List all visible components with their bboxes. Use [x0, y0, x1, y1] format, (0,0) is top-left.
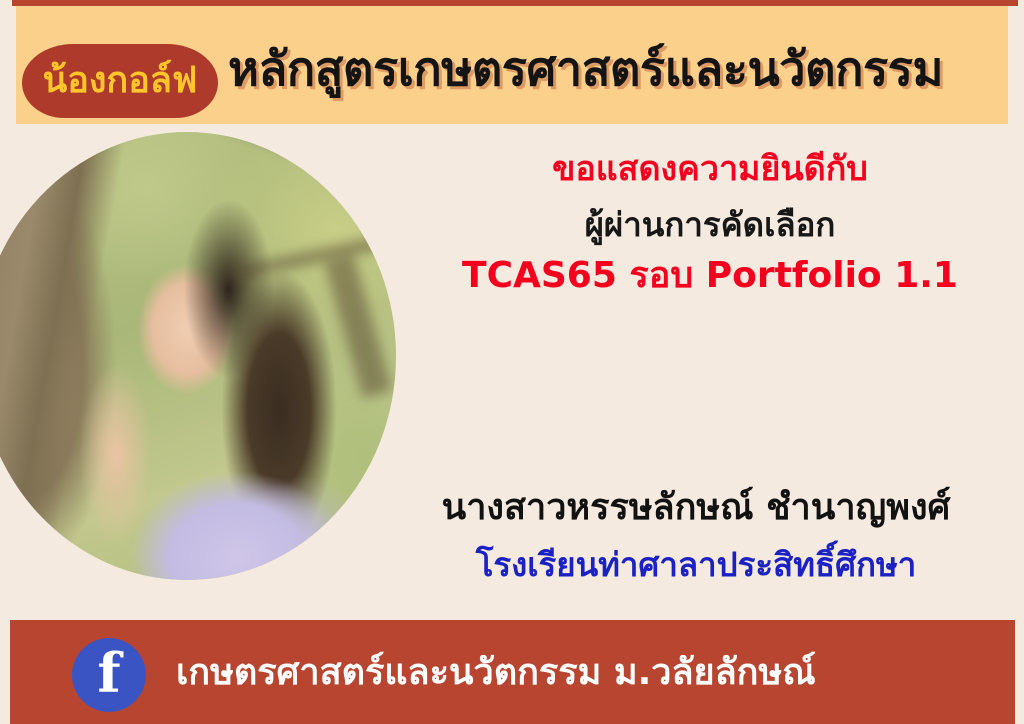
tree-trunk-decor [324, 254, 392, 399]
congratulations-heading: ขอแสดงความยินดีกับ [396, 152, 1024, 186]
program-title: หลักสูตรเกษตรศาสตร์และนวัตกรรม [228, 46, 1018, 93]
tree-branch-decor [230, 229, 396, 282]
round-label: TCAS65 รอบ Portfolio 1.1 [396, 258, 1024, 294]
facebook-page-name: เกษตรศาสตร์และนวัตกรรม ม.วลัยลักษณ์ [176, 655, 816, 691]
student-name: นางสาวหรรษลักษณ์ ชำนาญพงศ์ [372, 490, 1020, 526]
congratulation-poster: น้องกอล์ฟ หลักสูตรเกษตรศาสตร์และนวัตกรรม… [0, 0, 1024, 724]
nickname-badge: น้องกอล์ฟ [22, 44, 218, 118]
student-photo [0, 132, 396, 580]
student-school: โรงเรียนท่าศาลาประสิทธิ์ศึกษา [372, 548, 1020, 581]
student-photo-image [0, 132, 396, 580]
nickname-badge-label: น้องกอล์ฟ [22, 44, 218, 118]
facebook-icon-glyph: f [72, 638, 146, 712]
tree-branch-decor [217, 132, 396, 207]
selection-subheading: ผู้ผ่านการคัดเลือก [396, 208, 1024, 241]
